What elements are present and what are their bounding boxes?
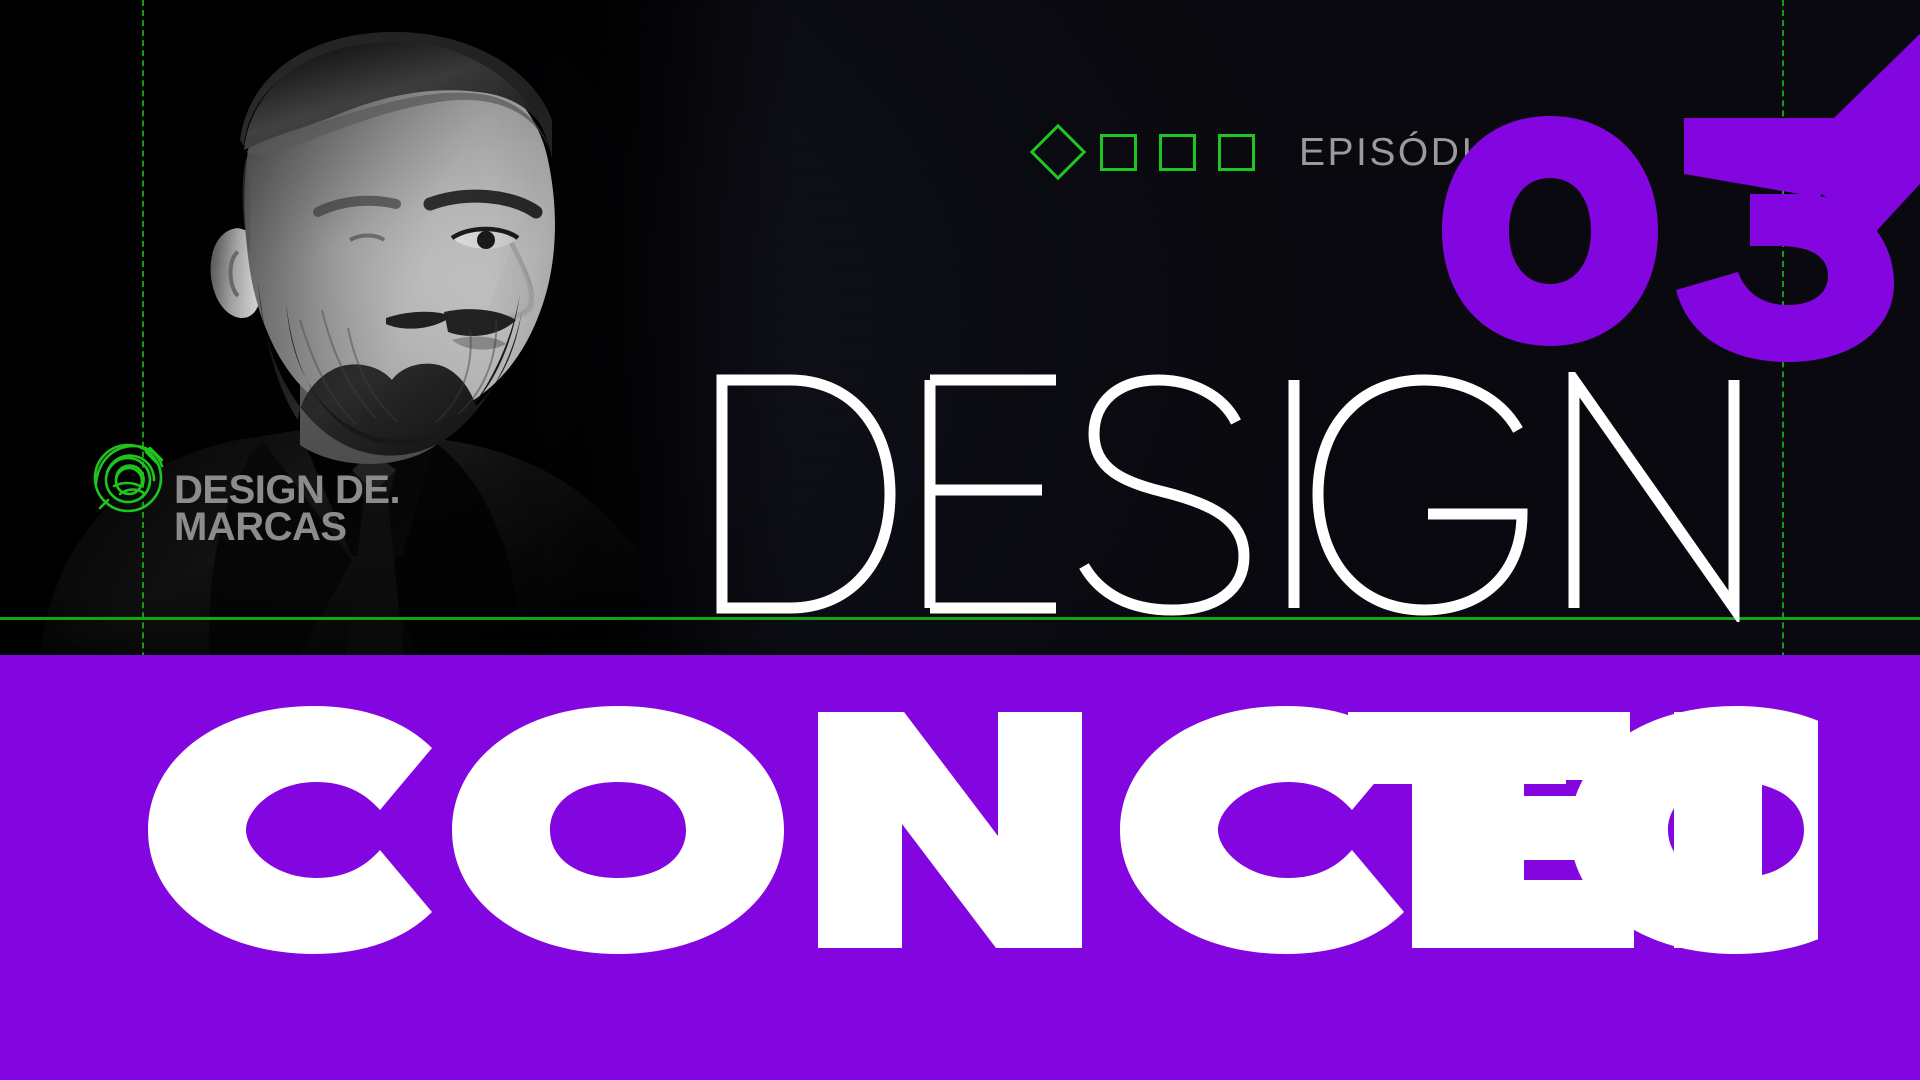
digit-zero bbox=[1442, 116, 1658, 346]
brand-lockup: DESIGN DE. MARCAS bbox=[88, 440, 400, 546]
square-marker-2-icon bbox=[1159, 134, 1196, 171]
portrait-photo bbox=[0, 0, 790, 655]
square-marker-3-icon bbox=[1218, 134, 1255, 171]
episode-number bbox=[1430, 86, 1920, 356]
brand-name: DESIGN DE. MARCAS bbox=[174, 440, 400, 546]
diamond-marker-icon bbox=[1030, 124, 1087, 181]
slide-canvas: EPISÓDIO bbox=[0, 0, 1920, 1080]
brand-line-1: DESIGN DE. bbox=[174, 472, 400, 509]
square-marker-1-icon bbox=[1100, 134, 1137, 171]
title-conceito-tail bbox=[1348, 700, 1818, 960]
spiral-fingerprint-logo-icon bbox=[88, 438, 168, 518]
title-design bbox=[712, 372, 1802, 622]
brand-line-2: MARCAS bbox=[174, 509, 400, 546]
